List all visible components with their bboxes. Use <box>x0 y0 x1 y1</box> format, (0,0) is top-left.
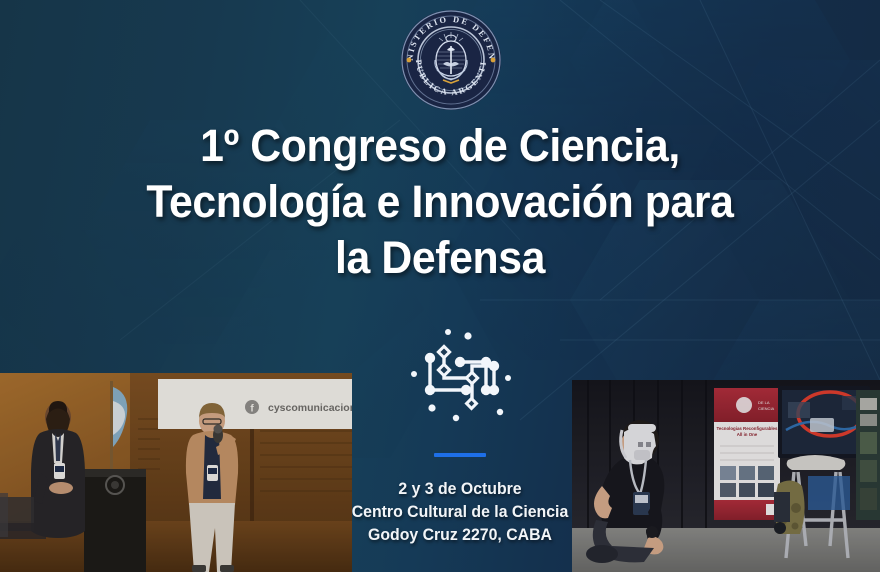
event-venue: Centro Cultural de la Ciencia <box>335 501 585 524</box>
title-line-2: Tecnología e Innovación para <box>60 174 820 230</box>
circuit-network-logo <box>408 322 512 426</box>
event-info: 2 y 3 de Octubre Centro Cultural de la C… <box>335 478 585 547</box>
accent-divider <box>434 453 486 457</box>
ministerio-de-defensa-seal: MINISTERIO DE DEFENSA REPUBLICA ARGENTIN… <box>399 8 503 112</box>
event-dates: 2 y 3 de Octubre <box>335 478 585 501</box>
photo-conference-speakers: f cyscomunicaciony <box>0 373 352 572</box>
poster-title: 1º Congreso de Ciencia, Tecnología e Inn… <box>60 118 820 286</box>
event-address: Godoy Cruz 2270, CABA <box>335 524 585 547</box>
title-line-3: la Defensa <box>60 230 820 286</box>
photo-vr-demo: DE LA CIENCIA Tecnologias Reconfigurable… <box>572 380 880 572</box>
circuit-nodes <box>411 329 511 421</box>
poster-canvas: MINISTERIO DE DEFENSA REPUBLICA ARGENTIN… <box>0 0 880 572</box>
title-line-1: 1º Congreso de Ciencia, <box>60 118 820 174</box>
